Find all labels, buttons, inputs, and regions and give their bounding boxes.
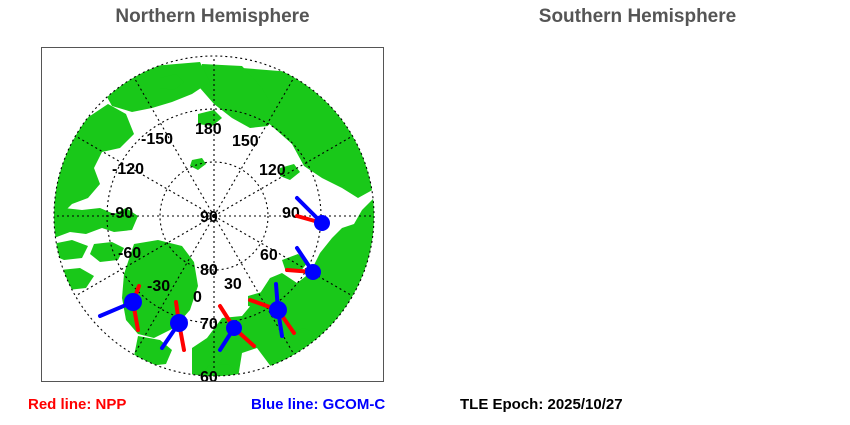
panel-northern-hemisphere: Northern Hemisphere: [0, 0, 425, 425]
label-lon-m60: -60: [118, 245, 141, 262]
label-lat-90: 90: [200, 209, 218, 226]
label-lon-m90: -90: [110, 205, 133, 222]
label-lon-30: 30: [224, 276, 242, 293]
label-lat-80: 80: [200, 262, 218, 279]
label-lon-m30: -30: [147, 278, 170, 295]
label-lat-60: 60: [200, 369, 218, 382]
legend-gcomc: Blue line: GCOM-C: [251, 396, 385, 413]
panel-southern-hemisphere: Southern Hemisphere: [425, 0, 850, 425]
label-lon-180: 180: [195, 121, 222, 138]
page-title-southern: Southern Hemisphere: [425, 6, 850, 28]
label-lon-150: 150: [232, 133, 259, 150]
label-lat-70: 70: [200, 316, 218, 333]
plot-northern-hemisphere[interactable]: 180 150 120 90 60 30 0 -30 -60 -90 -120 …: [41, 47, 384, 382]
label-lon-120: 120: [259, 162, 286, 179]
label-lon-60: 60: [260, 247, 278, 264]
label-lon-0: 0: [193, 289, 202, 306]
legend-npp: Red line: NPP: [28, 396, 126, 413]
label-lon-90e: 90: [282, 205, 300, 222]
label-lon-m120: -120: [112, 161, 144, 178]
label-lon-m150: -150: [141, 131, 173, 148]
page-title-northern: Northern Hemisphere: [0, 6, 425, 28]
legend-tle-epoch: TLE Epoch: 2025/10/27: [460, 396, 623, 413]
northern-map-svg: 180 150 120 90 60 30 0 -30 -60 -90 -120 …: [42, 48, 384, 382]
screenshot-root: Northern Hemisphere: [0, 0, 850, 425]
